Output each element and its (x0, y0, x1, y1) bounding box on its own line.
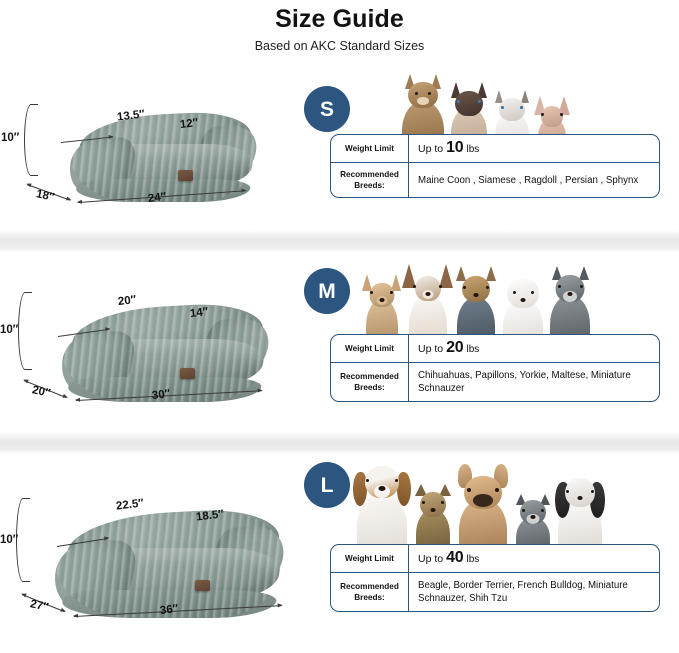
size-card-l: L (300, 454, 679, 652)
spec-row-breeds: Recommended Breeds: Chihuahuas, Papillon… (331, 362, 659, 401)
spec-value-breeds: Chihuahuas, Papillons, Yorkie, Maltese, … (409, 363, 659, 401)
dog-eye-right (580, 285, 583, 288)
spec-value-breeds: Maine Coon , Siamese , Ragdoll , Persian… (409, 163, 659, 197)
dog-eye-right (495, 488, 499, 492)
dog-eye-right (591, 490, 594, 493)
spec-label-weight: Weight Limit (331, 135, 409, 162)
size-badge-s[interactable]: S (304, 86, 350, 132)
weight-unit: lbs (467, 143, 480, 156)
height-arc-m (18, 292, 32, 370)
pet-photo-group-l (354, 456, 604, 552)
dog-eye-left (366, 479, 369, 482)
brand-tag (178, 170, 193, 181)
spec-row-weight: Weight Limit Up to 10 lbs (331, 135, 659, 162)
dog-eye-left (370, 291, 373, 294)
dog-head (462, 276, 490, 302)
spec-label-breeds: Recommended Breeds: (331, 163, 409, 197)
page-title: Size Guide (0, 4, 679, 34)
size-card-m: M (300, 252, 679, 432)
size-card-s: S (300, 62, 679, 230)
spec-value-weight: Up to 40 lbs (409, 545, 659, 572)
dim-height-m: 10″ (0, 324, 18, 336)
dog-ear-right (486, 266, 496, 281)
section-divider-1 (0, 230, 679, 252)
spec-row-breeds: Recommended Breeds: Maine Coon , Siamese… (331, 162, 659, 197)
dim-inner-length-l: 22.5″ (115, 497, 144, 512)
page-subtitle: Based on AKC Standard Sizes (0, 36, 679, 56)
dim-depth-m: 20″ (31, 384, 51, 400)
dim-depth-l: 27″ (29, 598, 49, 614)
dog-eye-left (558, 285, 561, 288)
dim-inner-width-s: 12″ (179, 117, 199, 131)
weight-number: 40 (446, 551, 463, 564)
dog-ear-right (391, 274, 401, 291)
spec-row-weight: Weight Limit Up to 20 lbs (331, 335, 659, 362)
spec-label-weight: Weight Limit (331, 335, 409, 362)
weight-prefix: Up to (418, 343, 443, 356)
dog-nose (568, 292, 573, 296)
height-arc-s (24, 104, 38, 176)
brand-tag (180, 368, 195, 379)
cat-eye-right (560, 113, 563, 116)
cat-eye-right (520, 106, 523, 109)
section-divider-2 (0, 432, 679, 454)
cat-snout (417, 97, 429, 105)
cat-eye-left (501, 106, 504, 109)
dog-eye-right (395, 479, 398, 482)
dog-snout (473, 494, 493, 507)
pet-shih-tzu (556, 472, 604, 552)
dim-height-l: 10″ (0, 534, 18, 546)
spec-row-weight: Weight Limit Up to 40 lbs (331, 545, 659, 572)
dog-eye-left (513, 291, 516, 294)
product-illustration-s: 10″ 13.5″ 12″ 18″ 24″ (0, 62, 300, 230)
pet-border-terrier (414, 484, 452, 552)
brand-tag (195, 580, 210, 591)
spec-value-weight: Up to 10 lbs (409, 135, 659, 162)
weight-unit: lbs (467, 343, 480, 356)
dim-height-s: 10″ (1, 132, 19, 144)
dog-ear-right (397, 472, 411, 506)
pet-french-bulldog (456, 464, 510, 552)
cat-eye-left (415, 92, 418, 95)
weight-number: 20 (446, 341, 463, 354)
dog-nose (578, 496, 583, 500)
dog-eye-right (486, 286, 489, 289)
dog-head (420, 492, 446, 517)
size-section-m: 10″ 20″ 14″ 20″ 30″ M (0, 252, 679, 432)
dim-width-l: 36″ (159, 603, 179, 617)
pet-bed-l (55, 512, 283, 618)
spec-table-m: Weight Limit Up to 20 lbs Recommended Br… (330, 334, 660, 402)
cat-eye-left (457, 100, 460, 103)
dog-head (507, 278, 539, 308)
dim-width-s: 24″ (147, 191, 167, 205)
size-badge-l[interactable]: L (304, 462, 350, 508)
spec-value-breeds: Beagle, Border Terrier, French Bulldog, … (409, 573, 659, 611)
dim-inner-length-m: 20″ (117, 294, 137, 308)
spec-label-weight: Weight Limit (331, 545, 409, 572)
dog-nose (474, 293, 479, 297)
dog-nose (430, 508, 435, 512)
page-header: Size Guide Based on AKC Standard Sizes (0, 0, 679, 62)
dim-depth-s: 18″ (35, 188, 55, 204)
pet-bed-s (70, 114, 255, 202)
cat-head (455, 91, 483, 116)
weight-unit: lbs (467, 553, 480, 566)
product-illustration-l: 10″ 22.5″ 18.5″ 27″ 36″ (0, 454, 300, 652)
weight-prefix: Up to (418, 553, 443, 566)
dog-eye-right (441, 501, 444, 504)
size-section-s: 10″ 13.5″ 12″ 18″ 24″ S (0, 62, 679, 230)
spec-label-breeds: Recommended Breeds: (331, 573, 409, 611)
size-section-l: 10″ 22.5″ 18.5″ 27″ 36″ L (0, 454, 679, 652)
dog-nose (521, 298, 526, 302)
cat-eye-right (478, 100, 481, 103)
spec-label-breeds: Recommended Breeds: (331, 363, 409, 401)
cat-ear-right (521, 90, 529, 103)
dog-eye-left (522, 509, 525, 512)
dog-ear-left (456, 266, 466, 281)
size-badge-m[interactable]: M (304, 268, 350, 314)
spec-table-l: Weight Limit Up to 40 lbs Recommended Br… (330, 544, 660, 612)
dog-eye-right (531, 291, 534, 294)
dog-ear-right (439, 264, 453, 288)
weight-prefix: Up to (418, 143, 443, 156)
dog-nose (530, 515, 535, 519)
dog-nose (379, 298, 384, 302)
spec-value-weight: Up to 20 lbs (409, 335, 659, 362)
spec-table-s: Weight Limit Up to 10 lbs Recommended Br… (330, 134, 660, 198)
dim-width-m: 30″ (151, 388, 171, 402)
dog-nose (378, 486, 385, 491)
spec-row-breeds: Recommended Breeds: Beagle, Border Terri… (331, 572, 659, 611)
cat-eye-right (428, 92, 431, 95)
weight-number: 10 (446, 141, 463, 154)
dog-eye-left (422, 501, 425, 504)
dog-eye-left (467, 488, 471, 492)
cat-head (499, 98, 525, 121)
cat-eye-left (541, 113, 544, 116)
dim-inner-width-m: 14″ (189, 306, 209, 320)
cat-head (541, 106, 563, 127)
dog-nose (425, 292, 430, 296)
pet-beagle (354, 458, 410, 552)
product-illustration-m: 10″ 20″ 14″ 20″ 30″ (0, 252, 300, 432)
